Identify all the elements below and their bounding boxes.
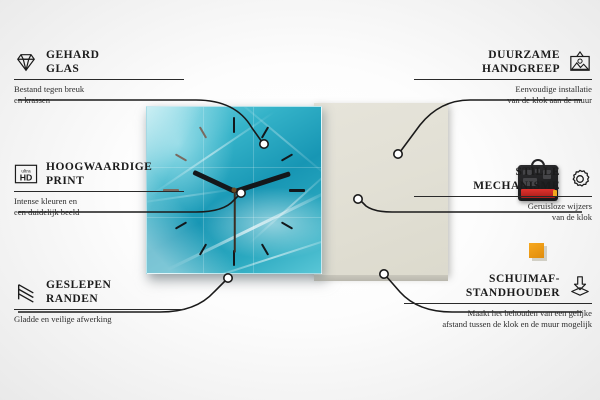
feature-description: Bestand tegen breuk en krassen — [14, 84, 184, 107]
diagonal-lines-icon — [14, 281, 38, 303]
foam-spacer — [529, 243, 544, 258]
feature-geslepen-randen: GESLEPENRANDEN Gladde en veilige afwerki… — [14, 278, 184, 325]
feature-title: DUURZAMEHANDGREEP — [482, 48, 560, 76]
picture-frame-icon — [568, 51, 592, 73]
minute-hand — [234, 171, 291, 194]
feature-title: GEHARDGLAS — [46, 48, 99, 76]
feature-duurzame-handgreep: DUURZAMEHANDGREEP Eenvoudige installatie… — [414, 48, 592, 107]
divider — [404, 303, 592, 304]
feature-gehard-glas: GEHARDGLAS Bestand tegen breuk en krasse… — [14, 48, 184, 107]
divider — [414, 196, 592, 197]
gear-icon — [568, 168, 592, 190]
feature-title: STILLEMECHANISME — [473, 165, 560, 193]
feature-hoogwaardige-print: ultra HD HOOGWAARDIGEPRINT Intense kleur… — [14, 160, 184, 219]
divider — [14, 191, 184, 192]
feature-title: SCHUIMAF-STANDHOUDER — [466, 272, 560, 300]
feature-description: Eenvoudige installatie van de klok aan d… — [414, 84, 592, 107]
feature-title: GESLEPENRANDEN — [46, 278, 111, 306]
infographic-stage: GEHARDGLAS Bestand tegen breuk en krasse… — [0, 0, 600, 400]
divider — [414, 79, 592, 80]
feature-description: Geruisloze wijzers van de klok — [414, 201, 592, 224]
divider — [14, 79, 184, 80]
hour-hand — [192, 169, 236, 193]
feature-schuimafstandhouder: SCHUIMAF-STANDHOUDER Maakt het behouden … — [404, 272, 592, 331]
feature-description: Maakt het behouden van een gelijke afsta… — [404, 308, 592, 331]
feature-stille-mechanisme: STILLEMECHANISME Geruisloze wijzers van … — [414, 165, 592, 224]
divider — [14, 309, 184, 310]
diamond-icon — [14, 51, 38, 73]
feature-title: HOOGWAARDIGEPRINT — [46, 160, 152, 188]
svg-text:HD: HD — [20, 172, 33, 182]
feature-description: Intense kleuren en een duidelijk beeld — [14, 196, 184, 219]
ultra-hd-icon: ultra HD — [14, 163, 38, 185]
second-hand — [234, 191, 236, 253]
press-down-icon — [568, 275, 592, 297]
hand-cap — [232, 188, 237, 193]
feature-description: Gladde en veilige afwerking — [14, 314, 184, 325]
